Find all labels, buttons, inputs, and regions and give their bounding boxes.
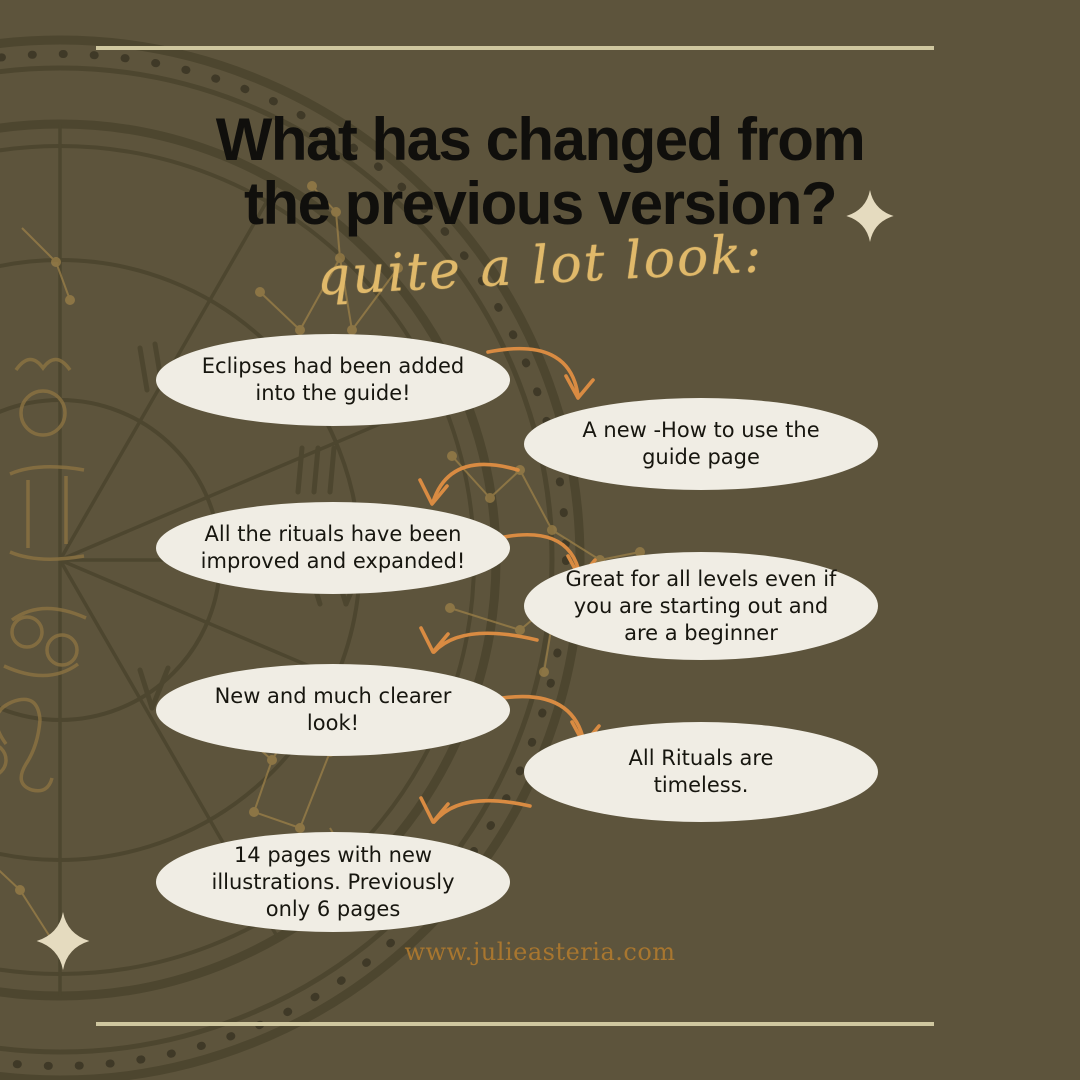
website-url[interactable]: www.julieasteria.com [0,938,1080,966]
bubble-clearer-look: New and much clearer look! [156,664,510,756]
arrow-path-2 [433,464,518,502]
arrow-head-2 [420,480,447,504]
bubble-timeless: All Rituals are timeless. [524,722,878,822]
bubble-rituals: All the rituals have been improved and e… [156,502,510,594]
arrow-head-1 [566,376,593,398]
bubble-text: A new -How to use the guide page [548,417,853,471]
bubble-text: 14 pages with new illustrations. Previou… [177,842,488,923]
arrow-head-4 [421,628,448,652]
bubble-text: All the rituals have been improved and e… [167,521,500,575]
bubble-text: Eclipses had been added into the guide! [168,353,498,407]
bubble-text: New and much clearer look! [181,683,486,737]
bubble-pages: 14 pages with new illustrations. Previou… [156,832,510,932]
bottom-divider-rule [96,1022,934,1026]
arrow-head-6 [421,798,448,822]
bubble-how-to-use: A new -How to use the guide page [524,398,878,490]
bubble-text: All Rituals are timeless. [595,745,808,799]
arrow-path-4 [434,633,537,652]
top-divider-rule [96,46,934,50]
arrow-path-6 [434,801,530,822]
poster-canvas: What has changed from the previous versi… [0,0,1080,1080]
title-line-1: What has changed from [0,108,1080,172]
bubble-eclipses: Eclipses had been added into the guide! [156,334,510,426]
bubble-text: Great for all levels even if you are sta… [532,566,871,647]
bubble-all-levels: Great for all levels even if you are sta… [524,552,878,660]
